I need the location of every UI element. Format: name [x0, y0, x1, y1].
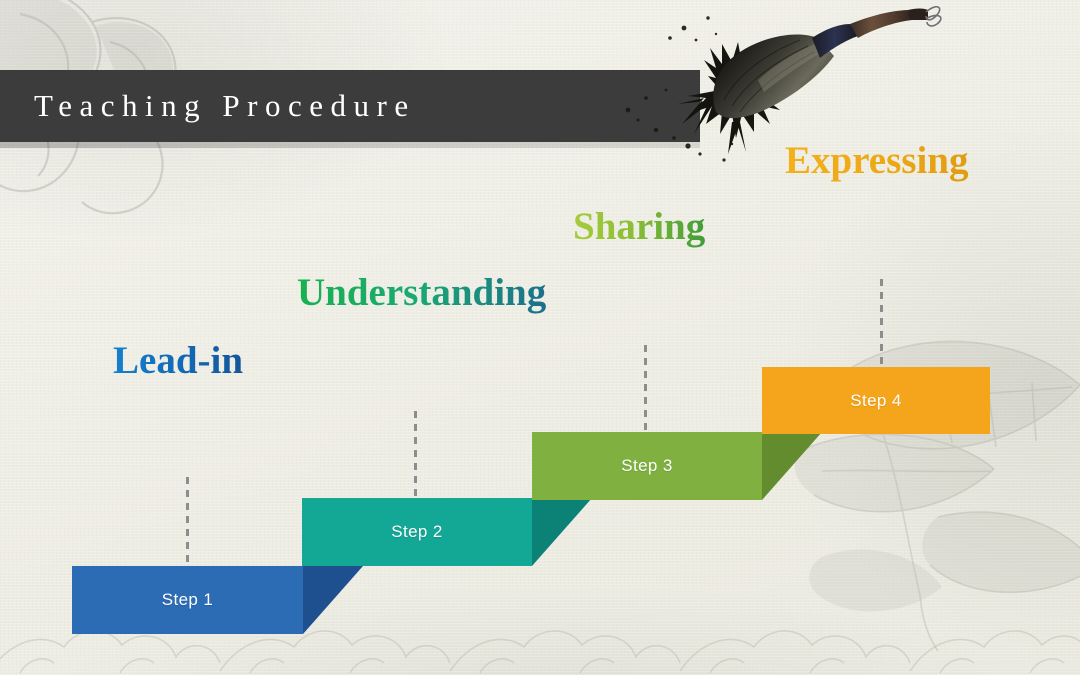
step-riser-3 — [762, 432, 822, 500]
slide-canvas: Teaching Procedure — [0, 0, 1080, 675]
stage-label-sharing: Sharing — [573, 204, 705, 249]
step-label-2: Step 2 — [391, 522, 443, 542]
dashed-connector-1 — [186, 477, 189, 567]
step-block-1[interactable]: Step 1 — [72, 566, 303, 634]
step-label-4: Step 4 — [850, 391, 902, 411]
stage-label-understanding: Understanding — [297, 270, 546, 315]
dashed-connector-3 — [644, 345, 647, 433]
stage-label-lead-in: Lead-in — [113, 338, 243, 383]
page-title: Teaching Procedure — [34, 70, 416, 142]
dashed-connector-4 — [880, 279, 883, 368]
dashed-connector-2 — [414, 411, 417, 499]
step-riser-2 — [532, 498, 592, 566]
step-label-3: Step 3 — [621, 456, 673, 476]
stage-label-expressing: Expressing — [785, 138, 969, 183]
step-label-1: Step 1 — [162, 590, 214, 610]
step-block-2[interactable]: Step 2 — [302, 498, 532, 566]
step-block-4[interactable]: Step 4 — [762, 367, 990, 434]
step-block-3[interactable]: Step 3 — [532, 432, 762, 500]
step-riser-1 — [303, 566, 363, 634]
